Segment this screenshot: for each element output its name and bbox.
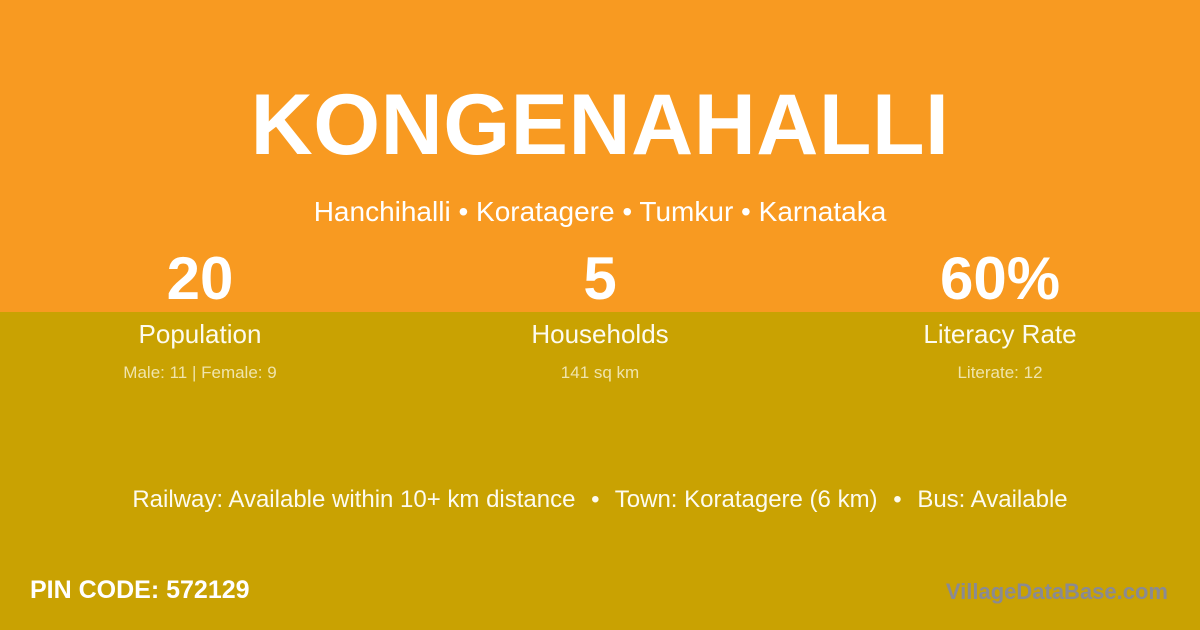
breadcrumb: Hanchihalli • Koratagere • Tumkur • Karn… (0, 168, 1200, 226)
stat-households: 5 Households 141 sq km (400, 246, 800, 384)
stat-households-value: 5 (400, 246, 800, 312)
stat-literacy-rate-label: Literacy Rate (800, 312, 1200, 349)
stat-population-label: Population (0, 312, 400, 349)
card-header: KONGENAHALLI Hanchihalli • Koratagere • … (0, 0, 1200, 226)
village-info-card: KONGENAHALLI Hanchihalli • Koratagere • … (0, 0, 1200, 630)
infrastructure-line: Railway: Available within 10+ km distanc… (0, 486, 1200, 514)
infra-separator-2: • (884, 486, 910, 514)
pin-code: PIN CODE: 572129 (30, 575, 250, 605)
stats-row: 20 Population Male: 11 | Female: 9 5 Hou… (0, 246, 1200, 384)
stat-population: 20 Population Male: 11 | Female: 9 (0, 246, 400, 384)
stat-population-sub: Male: 11 | Female: 9 (0, 349, 400, 384)
stat-population-value: 20 (0, 246, 400, 312)
page-title: KONGENAHALLI (0, 0, 1200, 168)
infra-bus: Bus: Available (917, 486, 1067, 513)
stat-households-sub: 141 sq km (400, 349, 800, 384)
stat-literacy-rate: 60% Literacy Rate Literate: 12 (800, 246, 1200, 384)
infra-separator-1: • (582, 486, 608, 514)
stat-literacy-rate-value: 60% (800, 246, 1200, 312)
infra-town: Town: Koratagere (6 km) (615, 486, 878, 513)
infra-railway: Railway: Available within 10+ km distanc… (132, 486, 575, 513)
stat-households-label: Households (400, 312, 800, 349)
stat-literacy-rate-sub: Literate: 12 (800, 349, 1200, 384)
card-footer: PIN CODE: 572129 VillageDataBase.com (0, 572, 1200, 614)
site-watermark: VillageDataBase.com (946, 578, 1168, 606)
